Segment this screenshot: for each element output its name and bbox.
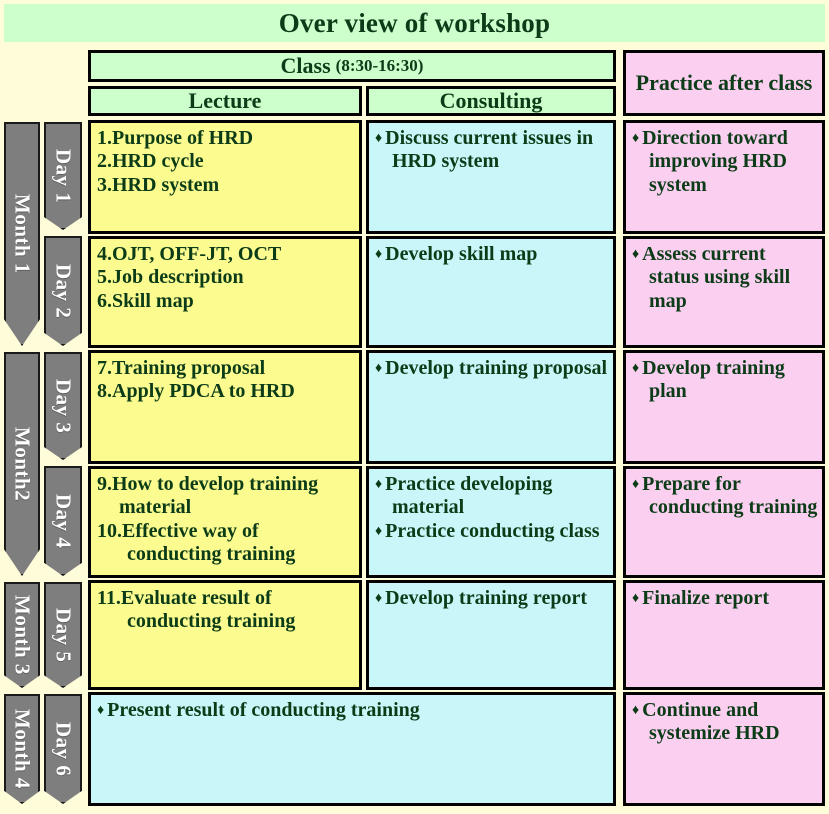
day-label: Day 1 (51, 149, 76, 203)
table-cell-practice-day4: ♦Prepare for conducting training (623, 466, 825, 578)
consulting-item: ♦Practice developing material (375, 473, 609, 520)
table-cell-practice-day6: ♦Continue and systemize HRD (623, 692, 825, 806)
table-cell-lecture-day1: 1.Purpose of HRD 2.HRD cycle 3.HRD syste… (88, 120, 362, 234)
day-label: Day 6 (51, 722, 76, 776)
diamond-bullet-icon: ♦ (632, 703, 639, 718)
month-label: Month2 (10, 427, 35, 501)
lecture-item: 5.Job description (97, 266, 355, 289)
consulting-item: ♦Develop training proposal (375, 357, 609, 380)
table-cell-practice-day5: ♦Finalize report (623, 580, 825, 690)
day-label: Day 2 (51, 264, 76, 318)
consulting-item: ♦Develop training report (375, 587, 609, 610)
day-arrow-3: Day 3 (44, 352, 82, 460)
lecture-item: 11.Evaluate result of conducting trainin… (97, 587, 355, 634)
diamond-bullet-icon: ♦ (375, 591, 382, 606)
day-arrow-6: Day 6 (44, 694, 82, 804)
consulting-item: ♦Develop skill map (375, 243, 609, 266)
table-cell-consulting-day3: ♦Develop training proposal (366, 350, 616, 464)
month-arrow-4: Month 4 (4, 694, 40, 804)
header-class-label: Class (281, 53, 331, 79)
diamond-bullet-icon: ♦ (632, 131, 639, 146)
page-title: Over view of workshop (4, 4, 825, 42)
table-cell-consulting-day2: ♦Develop skill map (366, 236, 616, 348)
table-cell-lecture-day4: 9.How to develop training material 10.Ef… (88, 466, 362, 578)
lecture-item: 2.HRD cycle (97, 150, 355, 173)
table-cell-consulting-day5: ♦Develop training report (366, 580, 616, 690)
header-lecture-label: Lecture (189, 88, 262, 114)
month-arrow-1: Month 1 (4, 122, 40, 346)
month-arrow-2: Month2 (4, 352, 40, 576)
table-cell-consulting-day1: ♦Discuss current issues in HRD system (366, 120, 616, 234)
table-cell-lecture-day3: 7.Training proposal 8.Apply PDCA to HRD (88, 350, 362, 464)
table-cell-lecture-day5: 11.Evaluate result of conducting trainin… (88, 580, 362, 690)
table-cell-practice-day1: ♦Direction toward improving HRD system (623, 120, 825, 234)
diamond-bullet-icon: ♦ (632, 591, 639, 606)
month-label: Month 3 (10, 595, 35, 675)
day-arrow-2: Day 2 (44, 236, 82, 346)
lecture-item: 1.Purpose of HRD (97, 127, 355, 150)
lecture-item: 9.How to develop training material (97, 473, 355, 520)
table-cell-practice-day3: ♦Develop training plan (623, 350, 825, 464)
practice-item: ♦Finalize report (632, 587, 818, 610)
lecture-item: 7.Training proposal (97, 357, 355, 380)
diamond-bullet-icon: ♦ (375, 477, 382, 492)
header-consulting: Consulting (366, 86, 616, 116)
practice-item: ♦Continue and systemize HRD (632, 699, 818, 746)
diamond-bullet-icon: ♦ (632, 247, 639, 262)
diamond-bullet-icon: ♦ (375, 131, 382, 146)
table-cell-merged-day6: ♦Present result of conducting training (88, 692, 616, 806)
practice-item: ♦Assess current status using skill map (632, 243, 818, 313)
header-class-time: (8:30-16:30) (336, 56, 424, 76)
header-practice-label: Practice after class (636, 71, 813, 96)
practice-item: ♦Direction toward improving HRD system (632, 127, 818, 197)
header-class: Class (8:30-16:30) (88, 50, 616, 82)
consulting-item: ♦Practice conducting class (375, 520, 609, 543)
month-label: Month 4 (10, 709, 35, 789)
diamond-bullet-icon: ♦ (375, 247, 382, 262)
lecture-item: 10.Effective way of conducting training (97, 520, 355, 567)
table-cell-practice-day2: ♦Assess current status using skill map (623, 236, 825, 348)
month-label: Month 1 (10, 194, 35, 274)
header-lecture: Lecture (88, 86, 362, 116)
practice-item: ♦Prepare for conducting training (632, 473, 818, 520)
lecture-item: 4.OJT, OFF-JT, OCT (97, 243, 355, 266)
table-cell-lecture-day2: 4.OJT, OFF-JT, OCT 5.Job description 6.S… (88, 236, 362, 348)
day-label: Day 4 (51, 494, 76, 548)
diamond-bullet-icon: ♦ (375, 361, 382, 376)
lecture-item: 6.Skill map (97, 290, 355, 313)
practice-item: ♦Develop training plan (632, 357, 818, 404)
page-title-text: Over view of workshop (279, 8, 550, 39)
day-label: Day 5 (51, 608, 76, 662)
diamond-bullet-icon: ♦ (97, 703, 104, 718)
lecture-item: 8.Apply PDCA to HRD (97, 380, 355, 403)
lecture-item: 3.HRD system (97, 174, 355, 197)
diamond-bullet-icon: ♦ (632, 361, 639, 376)
merged-item: ♦Present result of conducting training (97, 699, 609, 722)
diamond-bullet-icon: ♦ (632, 477, 639, 492)
day-arrow-4: Day 4 (44, 466, 82, 576)
table-cell-consulting-day4: ♦Practice developing material ♦Practice … (366, 466, 616, 578)
diamond-bullet-icon: ♦ (375, 524, 382, 539)
day-arrow-5: Day 5 (44, 582, 82, 688)
day-arrow-1: Day 1 (44, 122, 82, 230)
header-practice: Practice after class (623, 50, 825, 116)
month-arrow-3: Month 3 (4, 582, 40, 688)
header-consulting-label: Consulting (440, 88, 543, 114)
day-label: Day 3 (51, 379, 76, 433)
consulting-item: ♦Discuss current issues in HRD system (375, 127, 609, 174)
